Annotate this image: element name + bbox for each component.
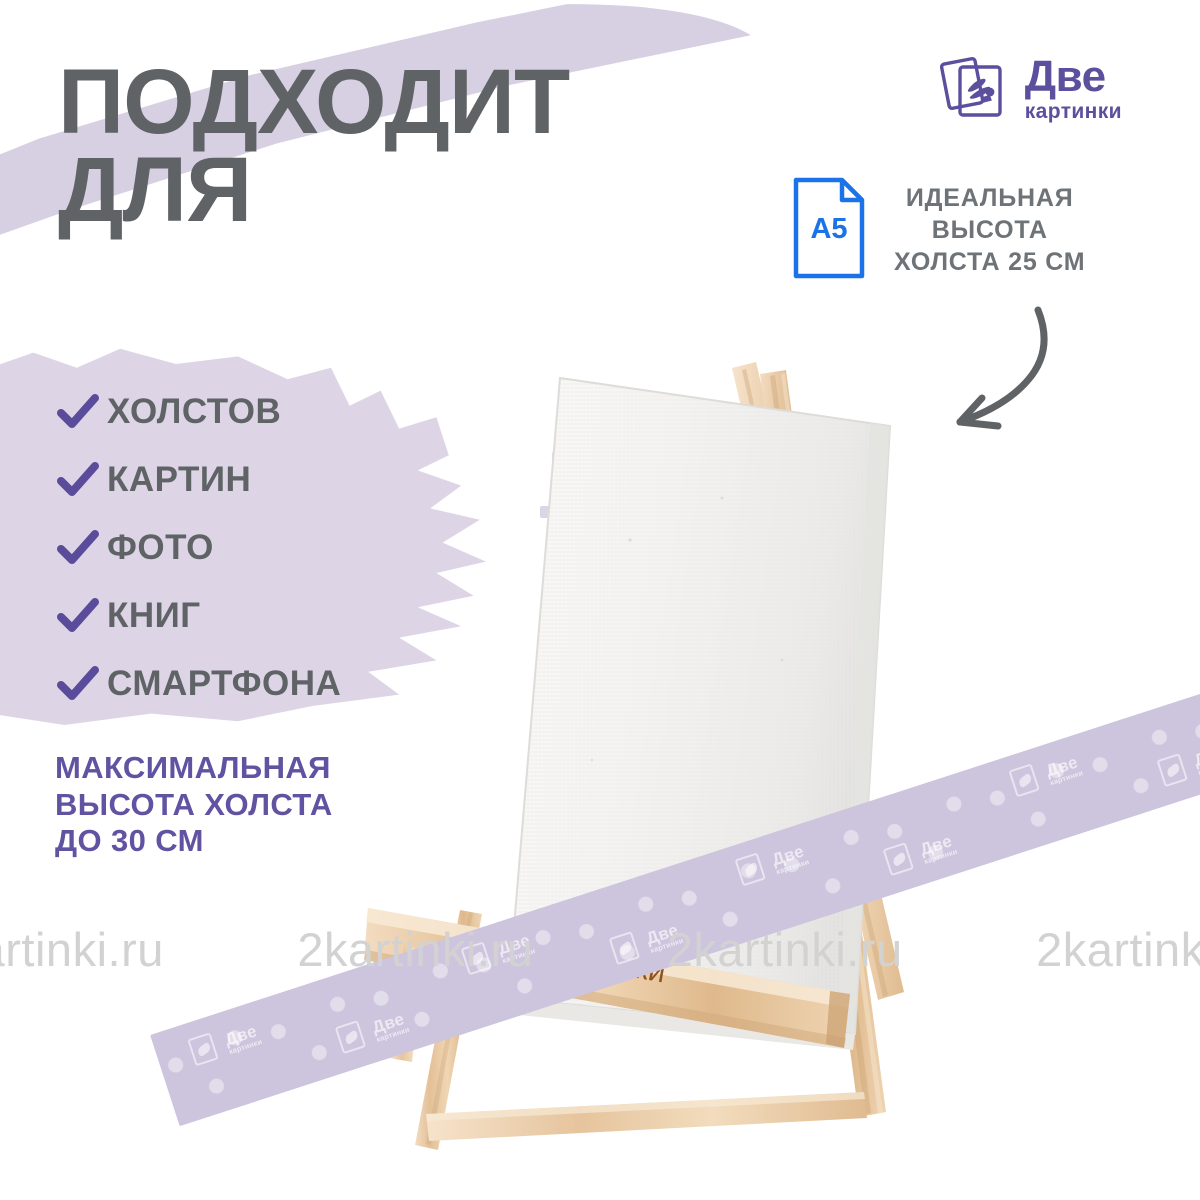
a5-note-line-2: ВЫСОТА — [894, 214, 1085, 246]
list-item-label: КАРТИН — [107, 460, 251, 500]
checkmark-icon — [55, 661, 101, 707]
list-item: СМАРТФОНА — [55, 650, 475, 718]
list-item-label: ХОЛСТОВ — [107, 392, 281, 432]
a5-note-line-1: ИДЕАЛЬНАЯ — [894, 182, 1085, 214]
list-item: ФОТО — [55, 514, 475, 582]
band-logo-text: Двекартинки — [223, 1022, 263, 1056]
band-logo-text: Двекартинки — [1044, 753, 1084, 787]
band-logo-text: Двекартинки — [918, 832, 958, 866]
band-logo-icon — [187, 1032, 218, 1066]
watermark-text: 2kartinki.ru — [0, 922, 170, 977]
checkmark-icon — [55, 389, 101, 435]
band-logo-icon — [1156, 753, 1187, 787]
max-note-line-2: ВЫСОТА ХОЛСТА — [55, 787, 455, 824]
watermark-text: 2kartinki.ru — [1030, 922, 1200, 977]
band-logo-icon — [609, 931, 640, 965]
band-logo-icon — [883, 842, 914, 876]
brand-logo[interactable]: Две картинки — [940, 52, 1122, 124]
brand-subtitle: картинки — [1025, 101, 1122, 122]
band-logo-icon — [734, 852, 765, 886]
band-logo-text: Двекартинки — [1192, 743, 1200, 777]
max-canvas-height-note: МАКСИМАЛЬНАЯ ВЫСОТА ХОЛСТА ДО 30 СМ — [55, 750, 455, 860]
list-item-label: ФОТО — [107, 528, 214, 568]
checkmark-icon — [55, 457, 101, 503]
a5-note-line-3: ХОЛСТА 25 СМ — [894, 246, 1085, 278]
checkmark-icon — [55, 593, 101, 639]
list-item: КНИГ — [55, 582, 475, 650]
document-page-icon: A5 — [792, 176, 866, 280]
list-item: ХОЛСТОВ — [55, 378, 475, 446]
suitable-for-list: ХОЛСТОВ КАРТИН ФОТО КНИГ СМАРТФОНА — [55, 378, 475, 718]
page-title: ПОДХОДИТ ДЛЯ — [58, 58, 718, 235]
max-note-line-1: МАКСИМАЛЬНАЯ — [55, 750, 455, 787]
a5-note: ИДЕАЛЬНАЯ ВЫСОТА ХОЛСТА 25 СМ — [894, 176, 1085, 278]
band-logo-icon — [335, 1020, 366, 1054]
max-note-line-3: ДО 30 СМ — [55, 823, 455, 860]
a5-badge: A5 ИДЕАЛЬНАЯ ВЫСОТА ХОЛСТА 25 СМ — [792, 176, 1085, 280]
brand-name: Две — [1025, 55, 1122, 99]
page-title-line-1: ПОДХОДИТ — [58, 58, 718, 146]
band-logo-text: Двекартинки — [770, 842, 810, 876]
page-title-line-2: ДЛЯ — [58, 146, 718, 234]
two-pictures-icon — [940, 52, 1012, 124]
list-item: КАРТИН — [55, 446, 475, 514]
band-logo-text: Двекартинки — [496, 931, 536, 965]
band-logo-icon — [1008, 763, 1039, 797]
list-item-label: КНИГ — [107, 596, 201, 636]
svg-text:A5: A5 — [810, 213, 847, 245]
list-item-label: СМАРТФОНА — [107, 664, 341, 704]
band-logo-icon — [461, 941, 492, 975]
poster-canvas: ПОДХОДИТ ДЛЯ Две картинки — [0, 0, 1200, 1200]
checkmark-icon — [55, 525, 101, 571]
band-logo-text: Двекартинки — [644, 921, 684, 955]
brand-wordmark: Две картинки — [1025, 55, 1122, 122]
band-logo-text: Двекартинки — [370, 1010, 410, 1044]
